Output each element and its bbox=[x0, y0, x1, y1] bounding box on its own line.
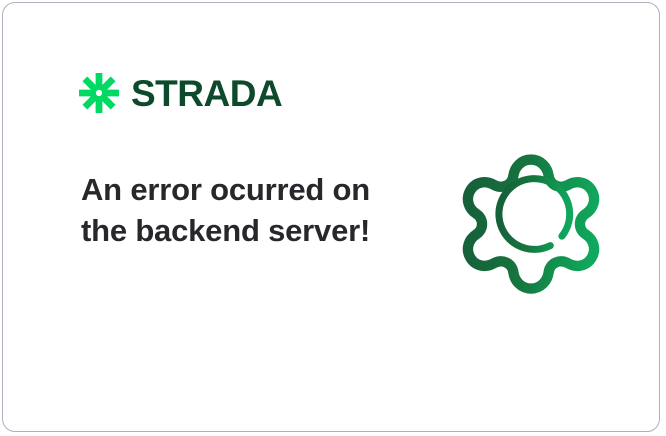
strada-asterisk-icon bbox=[77, 71, 121, 115]
brand-logo: STRADA bbox=[77, 71, 282, 115]
gear-illustration bbox=[451, 144, 611, 304]
error-message: An error ocurred on the backend server! bbox=[81, 169, 381, 251]
error-card: STRADA An error ocurred on the backend s… bbox=[2, 2, 660, 432]
brand-wordmark: STRADA bbox=[131, 75, 282, 112]
